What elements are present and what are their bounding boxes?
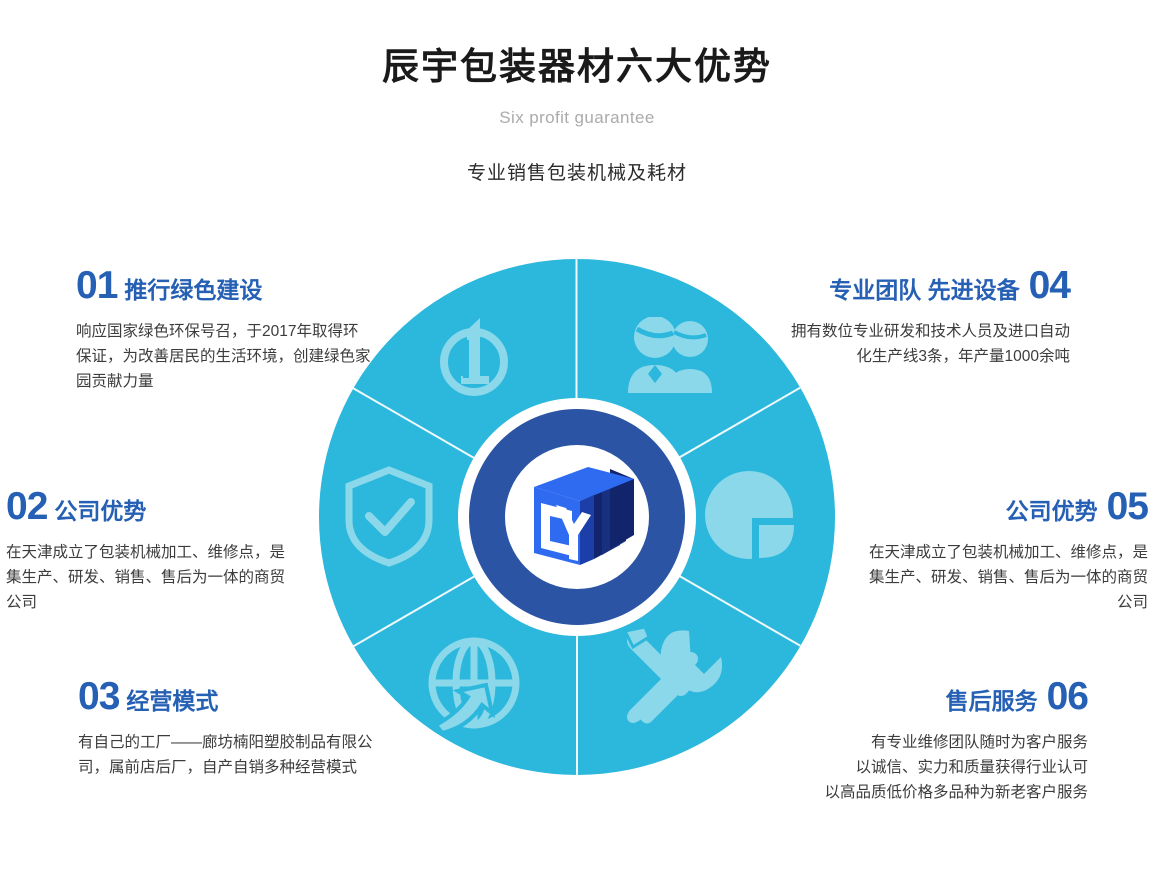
hub-logo-holder [505, 445, 649, 589]
feature-heading-03: 03经营模式 [78, 677, 388, 716]
feature-title-01: 推行绿色建设 [124, 277, 262, 303]
feature-number-06: 06 [1047, 675, 1088, 718]
feature-block-01: 01推行绿色建设 响应国家绿色环保号召，于2017年取得环保证，为改善居民的生活… [76, 266, 372, 394]
segment-icon-top-right [624, 317, 732, 398]
feature-block-05: 公司优势05 在天津成立了包装机械加工、维修点，是集生产、研发、销售、售后为一体… [856, 487, 1148, 615]
feature-body-03: 有自己的工厂——廊坊楠阳塑胶制品有限公司，属前店后厂，自产自销多种经营模式 [78, 730, 388, 780]
feature-block-04: 专业团队 先进设备04 拥有数位专业研发和技术人员及进口自动化生产线3条，年产量… [780, 266, 1070, 369]
subtitle-en-text: Six profit guarantee [477, 108, 676, 127]
feature-body-05: 在天津成立了包装机械加工、维修点，是集生产、研发、销售、售后为一体的商贸公司 [856, 540, 1148, 615]
feature-heading-05: 公司优势05 [856, 487, 1148, 526]
feature-title-03: 经营模式 [126, 688, 218, 714]
segment-icon-top-left [431, 306, 517, 403]
infographic-page: 辰宇包装器材六大优势 Six profit guarantee 专业销售包装机械… [0, 0, 1154, 894]
feature-number-02: 02 [6, 485, 47, 528]
feature-number-03: 03 [78, 675, 119, 718]
feature-body-06: 有专业维修团队随时为客户服务 以诚信、实力和质量获得行业认可 以高品质低价格多品… [776, 730, 1088, 805]
feature-block-06: 售后服务06 有专业维修团队随时为客户服务 以诚信、实力和质量获得行业认可 以高… [776, 677, 1088, 805]
segment-icon-bottom-left [422, 635, 526, 744]
feature-title-02: 公司优势 [54, 498, 146, 524]
feature-block-02: 02公司优势 在天津成立了包装机械加工、维修点，是集生产、研发、销售、售后为一体… [6, 487, 296, 615]
feature-body-04: 拥有数位专业研发和技术人员及进口自动化生产线3条，年产量1000余吨 [780, 319, 1070, 369]
feature-title-04: 专业团队 先进设备 [829, 277, 1019, 303]
feature-block-03: 03经营模式 有自己的工厂——廊坊楠阳塑胶制品有限公司，属前店后厂，自产自销多种… [78, 677, 388, 780]
feature-heading-04: 专业团队 先进设备04 [780, 266, 1070, 305]
tagline: 专业销售包装机械及耗材 [0, 158, 1154, 185]
feature-heading-02: 02公司优势 [6, 487, 296, 526]
feature-title-06: 售后服务 [946, 688, 1038, 714]
feature-number-04: 04 [1029, 264, 1070, 307]
page-title: 辰宇包装器材六大优势 [0, 36, 1154, 90]
feature-number-01: 01 [76, 264, 117, 307]
feature-title-05: 公司优势 [1006, 498, 1098, 524]
cy-box-logo [516, 461, 638, 573]
feature-body-01: 响应国家绿色环保号召，于2017年取得环保证，为改善居民的生活环境，创建绿色家园… [76, 319, 372, 394]
feature-heading-06: 售后服务06 [776, 677, 1088, 716]
six-segment-wheel [319, 259, 835, 775]
feature-number-05: 05 [1107, 485, 1148, 528]
segment-icon-bottom-right [619, 625, 729, 740]
segment-icon-middle-right [701, 467, 805, 572]
segment-icon-middle-left [343, 464, 435, 573]
feature-body-02: 在天津成立了包装机械加工、维修点，是集生产、研发、销售、售后为一体的商贸公司 [6, 540, 296, 615]
subtitle-en: Six profit guarantee [0, 108, 1154, 128]
feature-heading-01: 01推行绿色建设 [76, 266, 372, 305]
